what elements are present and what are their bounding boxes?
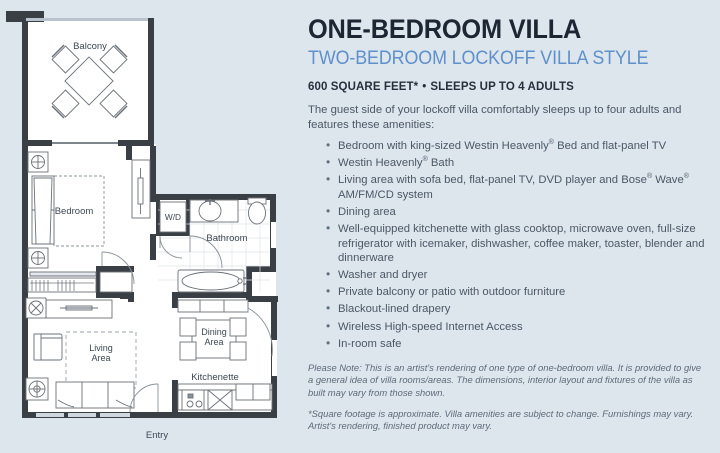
registered-mark: ® (647, 173, 652, 180)
page-title: ONE-BEDROOM VILLA (308, 14, 695, 44)
registered-mark: ® (684, 173, 689, 180)
label-washer-dryer: W/D (165, 212, 181, 222)
registered-mark: ® (549, 139, 554, 146)
amenity-item: Wireless High-speed Internet Access (338, 320, 720, 335)
label-bathroom: Bathroom (206, 233, 247, 244)
floorplan-panel: Balcony Bedroom W/D Bathroom Living Area… (0, 0, 300, 453)
label-living-area-line1: Living (89, 343, 113, 353)
villa-info-panel: ONE-BEDROOM VILLA TWO-BEDROOM LOCKOFF VI… (308, 0, 720, 453)
villa-floorplan-page: Balcony Bedroom W/D Bathroom Living Area… (0, 0, 720, 453)
page-subtitle: TWO-BEDROOM LOCKOFF VILLA STYLE (308, 47, 695, 71)
label-living-area-line2: Area (91, 353, 110, 363)
amenity-item: Westin Heavenly® Bath (338, 156, 720, 171)
label-dining-area-line1: Dining (201, 327, 227, 337)
spec-separator: • (418, 81, 430, 93)
amenity-item: Dining area (338, 205, 720, 220)
amenity-item: Well-equipped kitchenette with glass coo… (338, 222, 720, 266)
amenity-item: In-room safe (338, 337, 720, 352)
note-rendering: Please Note: This is an artist's renderi… (308, 362, 708, 399)
amenity-item: Bedroom with king-sized Westin Heavenly®… (338, 139, 720, 154)
amenity-item: Blackout-lined drapery (338, 302, 720, 317)
square-feet-text: 600 SQUARE FEET* (308, 81, 418, 93)
floorplan-drawing: Balcony Bedroom W/D Bathroom Living Area… (0, 0, 300, 453)
amenity-item: Living area with sofa bed, flat-panel TV… (338, 173, 720, 202)
note-square-footage: *Square footage is approximate. Villa am… (308, 408, 708, 432)
label-balcony: Balcony (73, 41, 107, 52)
specs-line: 600 SQUARE FEET*•SLEEPS UP TO 4 ADULTS (308, 80, 720, 94)
label-dining-area-line2: Area (204, 337, 223, 347)
label-entry: Entry (146, 430, 168, 441)
amenity-item: Washer and dryer (338, 268, 720, 283)
amenities-list: Bedroom with king-sized Westin Heavenly®… (308, 139, 720, 351)
amenity-item: Private balcony or patio with outdoor fu… (338, 285, 720, 300)
sleeps-text: SLEEPS UP TO 4 ADULTS (430, 81, 574, 93)
label-bedroom: Bedroom (55, 206, 94, 217)
intro-paragraph: The guest side of your lockoff villa com… (308, 103, 704, 132)
label-kitchenette: Kitchenette (191, 372, 239, 383)
registered-mark: ® (423, 156, 428, 163)
